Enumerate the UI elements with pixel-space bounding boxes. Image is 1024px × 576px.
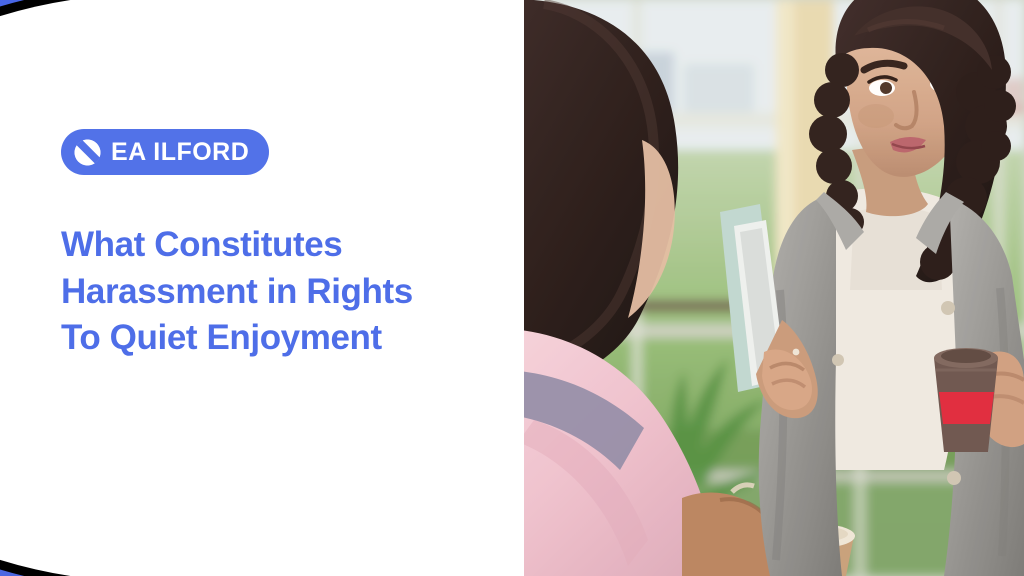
circle-slash-mark-icon	[73, 138, 102, 167]
brand-name-label: EA ILFORD	[111, 140, 249, 165]
photo-color-grade	[524, 0, 1024, 576]
brand-badge[interactable]: EA ILFORD	[61, 129, 269, 175]
cover-photo-illustration	[524, 0, 1024, 576]
page-title: What Constitutes Harassment in Rights To…	[61, 222, 531, 362]
cover-photo	[524, 0, 1024, 576]
cover-card: EA ILFORD What Constitutes Harassment in…	[0, 0, 1024, 576]
